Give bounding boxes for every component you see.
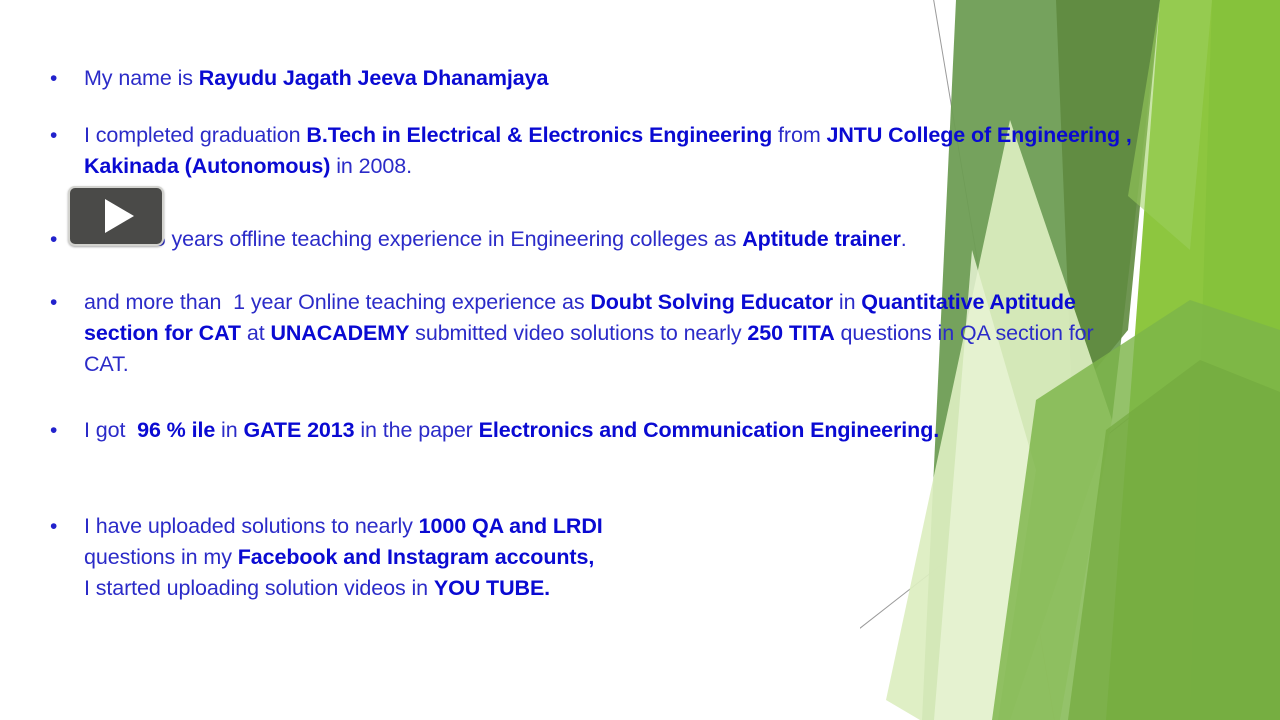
list-item: • I have uploaded solutions to nearly 10…: [44, 511, 1044, 604]
bullet-marker: •: [44, 287, 84, 318]
list-item: • and more than 1 year Online teaching e…: [44, 287, 1134, 380]
list-item: • I completed graduation B.Tech in Elect…: [44, 120, 1134, 182]
presentation-slide: • My name is Rayudu Jagath Jeeva Dhanamj…: [0, 0, 1280, 720]
bullet-marker: •: [44, 63, 84, 94]
bullet-text: I have uploaded solutions to nearly 1000…: [84, 511, 1044, 604]
bullet-text: I got 96 % ile in GATE 2013 in the paper…: [84, 415, 1044, 446]
bullet-marker: •: [44, 120, 84, 151]
video-play-button[interactable]: [68, 186, 164, 246]
list-item: • My name is Rayudu Jagath Jeeva Dhanamj…: [44, 63, 1134, 94]
bullet-text: I have 5 years offline teaching experien…: [84, 224, 1134, 255]
bullet-marker: •: [44, 415, 84, 446]
shape-bright-green-edge: [1190, 0, 1280, 720]
slide-body-content: • My name is Rayudu Jagath Jeeva Dhanamj…: [0, 0, 1160, 720]
list-item: • I got 96 % ile in GATE 2013 in the pap…: [44, 415, 1044, 446]
bullet-text: My name is Rayudu Jagath Jeeva Dhanamjay…: [84, 63, 1134, 94]
bullet-text: I completed graduation B.Tech in Electri…: [84, 120, 1134, 182]
list-item: • I have 5 years offline teaching experi…: [44, 224, 1134, 255]
bullet-marker: •: [44, 511, 84, 542]
bullet-text: and more than 1 year Online teaching exp…: [84, 287, 1134, 380]
play-triangle-icon: [105, 199, 134, 233]
